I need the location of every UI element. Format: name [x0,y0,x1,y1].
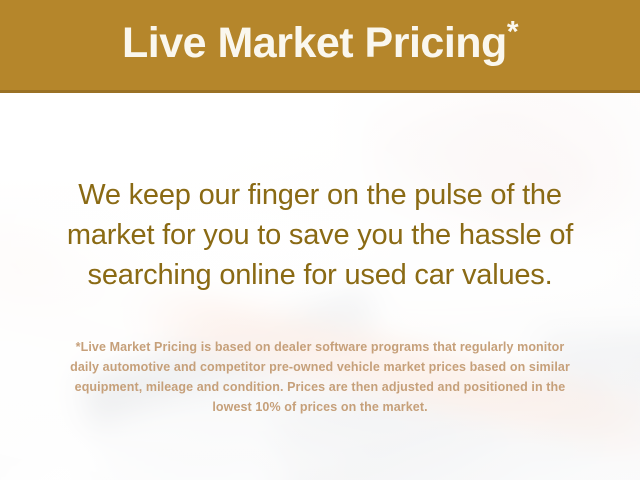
disclaimer-line-2: daily automotive and competitor pre-owne… [70,360,570,374]
disclaimer-text: *Live Market Pricing is based on dealer … [30,337,610,417]
disclaimer-line-1: *Live Market Pricing is based on dealer … [76,340,565,354]
disclaimer-line-3: equipment, mileage and condition. Prices… [75,380,566,394]
headline-line-2: market for you to save you the hassle of [67,219,573,251]
footnote-marker-icon: * [507,15,518,48]
page-title-text: Live Market Pricing [122,19,507,67]
disclaimer-line-4: lowest 10% of prices on the market. [212,400,427,414]
live-market-pricing-banner: Live Market Pricing* We keep our finger … [0,0,640,480]
header-bar: Live Market Pricing* [0,0,640,93]
headline-line-3: searching online for used car values. [88,259,553,291]
headline-text: We keep our finger on the pulse of the m… [20,175,620,295]
page-title: Live Market Pricing* [122,22,518,69]
content-area: We keep our finger on the pulse of the m… [0,93,640,480]
headline-line-1: We keep our finger on the pulse of the [78,179,562,211]
